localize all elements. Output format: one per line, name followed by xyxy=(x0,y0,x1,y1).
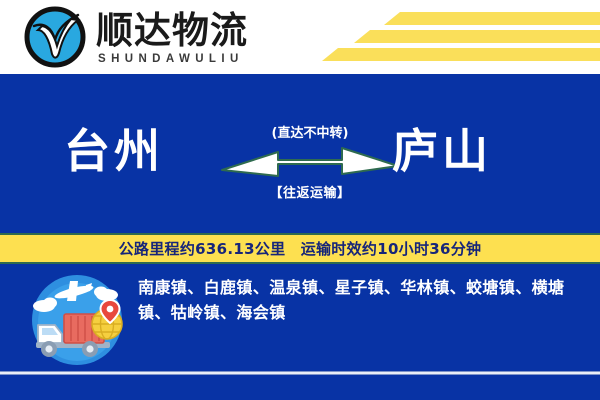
brand-name-block: 顺达物流 SHUNDAWULIU xyxy=(96,9,248,66)
banner-body: 台州 (直达不中转) 【往返运输】 庐山 公路里程约636.13公里 运输时效约… xyxy=(0,74,600,400)
double-headed-arrow-icon xyxy=(220,144,400,183)
brand-logo: 顺达物流 SHUNDAWULIU xyxy=(24,6,248,68)
coverage-section: 南康镇、白鹿镇、温泉镇、星子镇、华林镇、蛟塘镇、横塘镇、牯岭镇、海会镇 xyxy=(0,264,600,370)
route-row: 台州 (直达不中转) 【往返运输】 庐山 xyxy=(0,108,600,228)
brand-name-cn: 顺达物流 xyxy=(96,11,248,51)
truck-plane-globe-icon xyxy=(24,272,130,368)
bottom-band xyxy=(0,375,600,400)
decorative-stripes xyxy=(320,0,600,74)
brand-name-en: SHUNDAWULIU xyxy=(98,53,248,65)
distance-duration-text: 公路里程约636.13公里 运输时效约10小时36分钟 xyxy=(119,238,482,259)
coverage-towns-text: 南康镇、白鹿镇、温泉镇、星子镇、华林镇、蛟塘镇、横塘镇、牯岭镇、海会镇 xyxy=(138,276,590,326)
route-arrow-block: (直达不中转) 【往返运输】 xyxy=(228,108,392,228)
stripe-2 xyxy=(354,30,600,43)
stripe-1 xyxy=(384,12,600,25)
destination-city: 庐山 xyxy=(392,128,492,174)
logistics-route-banner: 顺达物流 SHUNDAWULIU 台州 (直达不中转) 【往返运输】 xyxy=(0,0,600,400)
route-note-roundtrip: 【往返运输】 xyxy=(228,182,392,201)
banner-header: 顺达物流 SHUNDAWULIU xyxy=(0,0,600,74)
stripe-3 xyxy=(322,48,600,61)
circle-swoosh-logo-icon xyxy=(24,6,86,68)
distance-duration-bar: 公路里程约636.13公里 运输时效约10小时36分钟 xyxy=(0,233,600,264)
origin-city: 台州 xyxy=(64,128,164,174)
route-note-direct: (直达不中转) xyxy=(228,122,392,141)
